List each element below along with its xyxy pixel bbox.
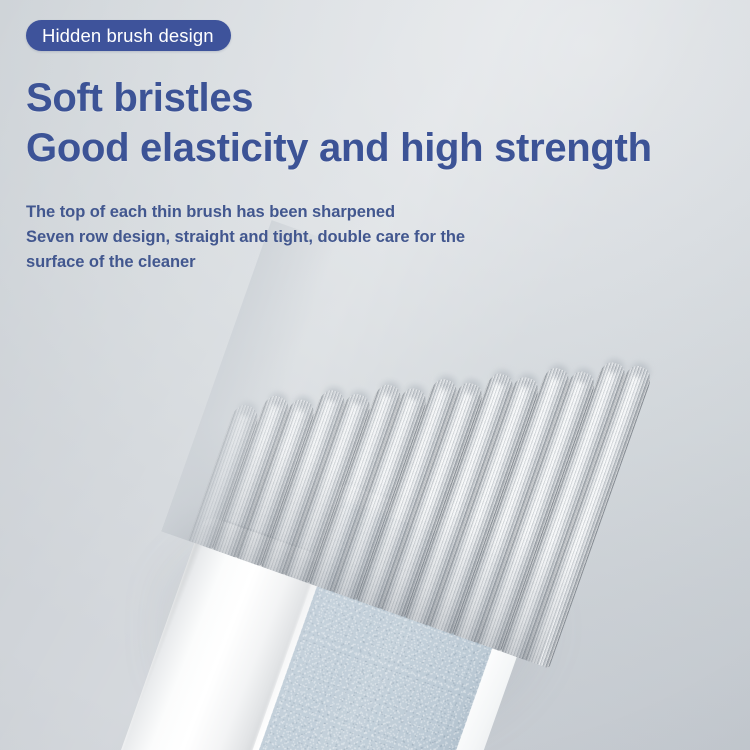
body-copy-line-1: The top of each thin brush has been shar…	[26, 200, 465, 225]
body-copy-line-3: surface of the cleaner	[26, 250, 465, 275]
headline-line-2: Good elasticity and high strength	[26, 126, 652, 171]
body-copy: The top of each thin brush has been shar…	[26, 200, 465, 275]
headline-line-1: Soft bristles	[26, 76, 253, 121]
product-marketing-image: Hidden brush design Soft bristles Good e…	[0, 0, 750, 750]
body-copy-line-2: Seven row design, straight and tight, do…	[26, 225, 465, 250]
feature-badge: Hidden brush design	[26, 20, 231, 51]
